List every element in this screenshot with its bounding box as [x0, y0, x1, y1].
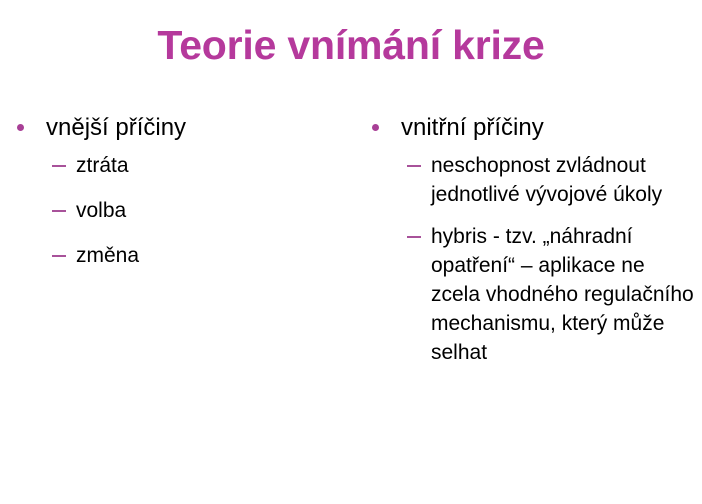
- content-column-right: vnitřní příčiny neschopnost zvládnout je…: [355, 113, 702, 380]
- bullet-item-level2: volba: [8, 196, 349, 225]
- slide: Teorie vnímání krize vnější příčiny ztrá…: [0, 0, 702, 504]
- sub-bullet-label: hybris - tzv. „náhradní opatření“ – apli…: [431, 225, 694, 364]
- bullet-item-level1: vnitřní příčiny: [363, 113, 698, 143]
- bullet-item-level2: neschopnost zvládnout jednotlivé vývojov…: [363, 151, 698, 209]
- bullet-dot-icon: [17, 124, 24, 131]
- dash-icon: [52, 210, 66, 212]
- dash-icon: [407, 165, 421, 167]
- slide-body: vnější příčiny ztráta volba změna: [0, 113, 702, 504]
- bullet-item-level2: hybris - tzv. „náhradní opatření“ – apli…: [363, 222, 698, 367]
- bullet-item-level2: změna: [8, 241, 349, 270]
- dash-icon: [52, 255, 66, 257]
- dash-icon: [407, 236, 421, 238]
- sub-bullet-list-right: neschopnost zvládnout jednotlivé vývojov…: [363, 151, 698, 367]
- bullet-label: vnitřní příčiny: [401, 114, 544, 141]
- sub-bullet-label: neschopnost zvládnout jednotlivé vývojov…: [431, 154, 662, 206]
- content-column-left: vnější příčiny ztráta volba změna: [0, 113, 355, 286]
- bullet-dot-icon: [372, 124, 379, 131]
- dash-icon: [52, 165, 66, 167]
- page-title: Teorie vnímání krize: [0, 22, 702, 69]
- sub-bullet-list-left: ztráta volba změna: [8, 151, 349, 270]
- bullet-item-level1: vnější příčiny: [8, 113, 349, 143]
- sub-bullet-label: ztráta: [76, 154, 129, 177]
- sub-bullet-label: volba: [76, 199, 126, 222]
- bullet-label: vnější příčiny: [46, 114, 186, 141]
- bullet-item-level2: ztráta: [8, 151, 349, 180]
- sub-bullet-label: změna: [76, 244, 139, 267]
